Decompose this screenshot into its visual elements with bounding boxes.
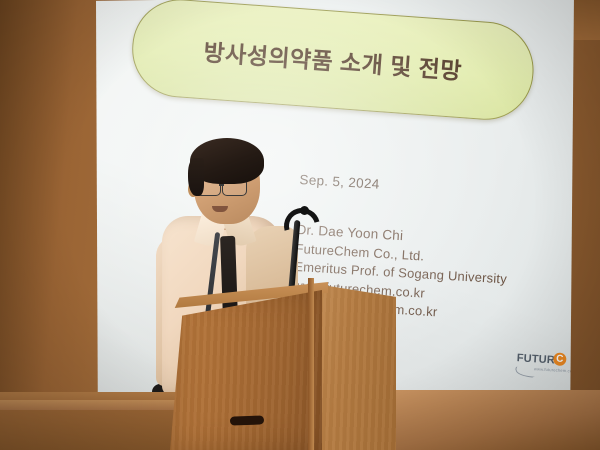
podium-corner-edge (308, 278, 314, 450)
slide-date: Sep. 5, 2024 (299, 172, 599, 205)
speaker-hair-side (188, 158, 204, 196)
slide-title-banner: 방사성의약품 소개 및 전망 (129, 0, 537, 123)
presentation-photo: 방사성의약품 소개 및 전망 Sep. 5, 2024 Dr. Dae Yoon… (0, 0, 600, 450)
podium-slot (230, 415, 264, 425)
podium-wood-grain (170, 290, 322, 450)
gooseneck-capsule-icon (300, 206, 309, 215)
wall-ledge-right (392, 390, 600, 450)
speaker-glasses-bridge (219, 184, 224, 186)
logo-c-letter: C (553, 352, 567, 366)
podium-wood-grain (310, 276, 396, 450)
podium (170, 276, 400, 450)
podium-front-panel (170, 290, 322, 450)
room-wall-left (0, 0, 104, 450)
podium-side-panel (310, 276, 396, 450)
slide-title: 방사성의약품 소개 및 전망 (130, 0, 536, 122)
